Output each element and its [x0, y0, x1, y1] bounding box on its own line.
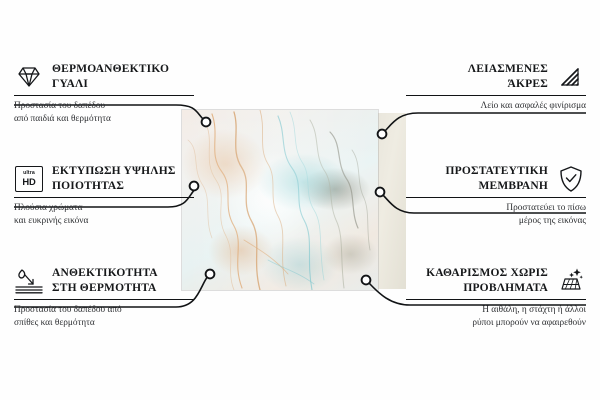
feature-protective-membrane: ΠΡΟΣΤΑΤΕΥΤΙΚΗ ΜΕΜΒΡΑΝΗ Προστατεύει το πί…	[406, 164, 586, 228]
feature-heat-resistant-glass: ΘΕΡΜΟΑΝΘΕΚΤΙΚΟ ΓΥΑΛΙ Προστασία του δαπέδ…	[14, 62, 194, 126]
product-side-panel	[376, 113, 406, 289]
feature-body: Πλούσια χρώματα και ευκρινής εικόνα	[14, 202, 194, 228]
title-line-1: ΚΑΘΑΡΙΣΜΟΣ ΧΩΡΙΣ	[426, 267, 548, 279]
divider	[406, 197, 586, 198]
feature-title: ΛΕΙΑΣΜΕΝΕΣ ΆΚΡΕΣ	[468, 62, 548, 91]
ultra-hd-icon: ultra HD	[14, 164, 44, 194]
polished-edge-icon	[556, 62, 586, 92]
feature-header: ΛΕΙΑΣΜΕΝΕΣ ΆΚΡΕΣ	[406, 62, 586, 92]
title-line-2: ΓΥΑΛΙ	[52, 78, 88, 90]
body-line-1: Λείο και ασφαλές φινίρισμα	[480, 101, 586, 111]
title-line-1: ΛΕΙΑΣΜΕΝΕΣ	[468, 63, 548, 75]
feature-polished-edges: ΛΕΙΑΣΜΕΝΕΣ ΆΚΡΕΣ Λείο και ασφαλές φινίρι…	[406, 62, 586, 113]
body-line-2: μέρος της εικόνας	[519, 216, 586, 226]
product-front-face	[182, 110, 378, 290]
feature-title: ΘΕΡΜΟΑΝΘΕΚΤΙΚΟ ΓΥΑΛΙ	[52, 62, 169, 91]
divider	[14, 95, 194, 96]
feature-title: ΠΡΟΣΤΑΤΕΥΤΙΚΗ ΜΕΜΒΡΑΝΗ	[446, 164, 548, 193]
title-line-2: ΠΡΟΒΛΗΜΑΤΑ	[463, 282, 548, 294]
shield-check-icon	[556, 164, 586, 194]
divider	[14, 197, 194, 198]
body-line-1: Προστασία του δαπέδου	[14, 101, 105, 111]
feature-high-quality-print: ultra HD ΕΚΤΥΠΩΣΗ ΥΨΗΛΗΣ ΠΟΙΟΤΗΤΑΣ Πλούσ…	[14, 164, 194, 228]
feature-title: ΚΑΘΑΡΙΣΜΟΣ ΧΩΡΙΣ ΠΡΟΒΛΗΜΑΤΑ	[426, 266, 548, 295]
body-line-1: Η αιθάλη, η στάχτη ή άλλοι	[482, 305, 586, 315]
feature-header: ΚΑΘΑΡΙΣΜΟΣ ΧΩΡΙΣ ΠΡΟΒΛΗΜΑΤΑ	[406, 266, 586, 296]
diamond-icon	[14, 62, 44, 92]
feature-header: ΘΕΡΜΟΑΝΘΕΚΤΙΚΟ ΓΥΑΛΙ	[14, 62, 194, 92]
feature-title: ΕΚΤΥΠΩΣΗ ΥΨΗΛΗΣ ΠΟΙΟΤΗΤΑΣ	[52, 164, 176, 193]
body-line-2: από παιδιά και θερμότητα	[14, 114, 111, 124]
body-line-1: Πλούσια χρώματα	[14, 203, 83, 213]
hd-label: HD	[22, 177, 35, 186]
body-line-2: σπίθες και θερμότητα	[14, 318, 95, 328]
title-line-2: ΣΤΗ ΘΕΡΜΟΤΗΤΑ	[52, 282, 157, 294]
feature-body: Η αιθάλη, η στάχτη ή άλλοι ρύποι μπορούν…	[406, 304, 586, 330]
feature-heat-durability: ΑΝΘΕΚΤΙΚΟΤΗΤΑ ΣΤΗ ΘΕΡΜΟΤΗΤΑ Προστασία το…	[14, 266, 194, 330]
divider	[406, 299, 586, 300]
body-line-2: και ευκρινής εικόνα	[14, 216, 88, 226]
feature-body: Λείο και ασφαλές φινίρισμα	[406, 100, 586, 113]
feature-body: Προστασία του δαπέδου από σπίθες και θερ…	[14, 304, 194, 330]
title-line-2: ΠΟΙΟΤΗΤΑΣ	[52, 180, 124, 192]
title-line-1: ΑΝΘΕΚΤΙΚΟΤΗΤΑ	[52, 267, 158, 279]
feature-body: Προστατεύει το πίσω μέρος της εικόνας	[406, 202, 586, 228]
divider	[14, 299, 194, 300]
sparkle-clean-icon	[556, 266, 586, 296]
flame-deflect-icon	[14, 266, 44, 296]
feature-header: ultra HD ΕΚΤΥΠΩΣΗ ΥΨΗΛΗΣ ΠΟΙΟΤΗΤΑΣ	[14, 164, 194, 194]
glass-reflection	[182, 110, 378, 290]
title-line-2: ΆΚΡΕΣ	[508, 78, 548, 90]
product-image	[182, 110, 378, 290]
title-line-1: ΘΕΡΜΟΑΝΘΕΚΤΙΚΟ	[52, 63, 169, 75]
feature-easy-cleaning: ΚΑΘΑΡΙΣΜΟΣ ΧΩΡΙΣ ΠΡΟΒΛΗΜΑΤΑ Η αιθάλη, η …	[406, 266, 586, 330]
feature-body: Προστασία του δαπέδου από παιδιά και θερ…	[14, 100, 194, 126]
feature-header: ΠΡΟΣΤΑΤΕΥΤΙΚΗ ΜΕΜΒΡΑΝΗ	[406, 164, 586, 194]
title-line-1: ΕΚΤΥΠΩΣΗ ΥΨΗΛΗΣ	[52, 165, 176, 177]
divider	[406, 95, 586, 96]
title-line-1: ΠΡΟΣΤΑΤΕΥΤΙΚΗ	[446, 165, 548, 177]
body-line-1: Προστατεύει το πίσω	[506, 203, 586, 213]
title-line-2: ΜΕΜΒΡΑΝΗ	[478, 180, 548, 192]
feature-header: ΑΝΘΕΚΤΙΚΟΤΗΤΑ ΣΤΗ ΘΕΡΜΟΤΗΤΑ	[14, 266, 194, 296]
body-line-2: ρύποι μπορούν να αφαιρεθούν	[472, 318, 586, 328]
body-line-1: Προστασία του δαπέδου από	[14, 305, 122, 315]
infographic-canvas: ΘΕΡΜΟΑΝΘΕΚΤΙΚΟ ΓΥΑΛΙ Προστασία του δαπέδ…	[0, 0, 600, 400]
feature-title: ΑΝΘΕΚΤΙΚΟΤΗΤΑ ΣΤΗ ΘΕΡΜΟΤΗΤΑ	[52, 266, 158, 295]
